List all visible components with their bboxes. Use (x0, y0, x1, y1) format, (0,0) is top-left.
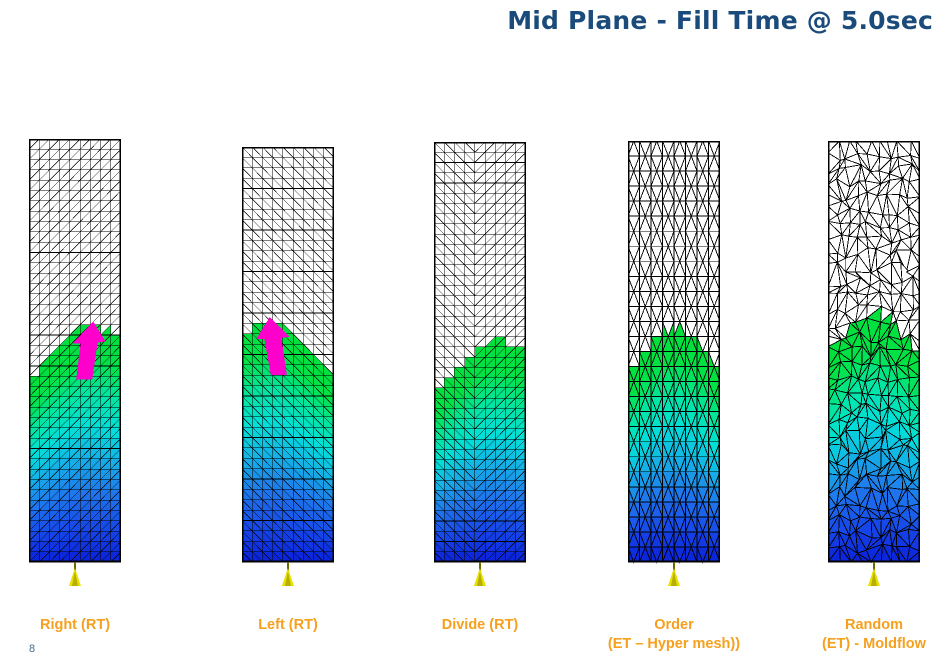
mesh-panel-order-et[interactable] (628, 141, 720, 590)
mesh-svg-right-rt (29, 139, 121, 590)
panel-label-line1: Random (845, 617, 903, 633)
panel-label-line1: Left (RT) (258, 617, 318, 633)
injection-gate-marker (474, 562, 486, 586)
mesh-svg-divide-rt (434, 142, 526, 590)
mesh-panel-random-et[interactable] (828, 141, 920, 590)
slide-canvas: Mid Plane - Fill Time @ 5.0sec Right (RT… (0, 0, 945, 661)
panel-label-line1: Divide (RT) (442, 617, 519, 633)
injection-gate-marker (69, 562, 81, 586)
mesh-triangles (628, 141, 720, 562)
mesh-triangles (828, 141, 920, 562)
panel-label-line1: Right (RT) (40, 617, 110, 633)
mesh-panel-right-rt[interactable] (29, 139, 121, 590)
page-number: 8 (29, 643, 35, 655)
mesh-panel-divide-rt[interactable] (434, 142, 526, 590)
mesh-svg-random-et (828, 141, 920, 590)
panel-label-random-et: Random(ET) - Moldflow (744, 616, 945, 654)
mesh-svg-left-rt (242, 147, 334, 590)
mesh-triangles (434, 142, 526, 562)
injection-gate-marker (282, 562, 294, 586)
injection-gate-marker (668, 562, 680, 586)
injection-gate-marker (868, 562, 880, 586)
mesh-svg-order-et (628, 141, 720, 590)
panel-label-line1: Order (654, 617, 694, 633)
panel-label-line2: (ET) - Moldflow (744, 635, 945, 654)
mesh-triangles (29, 139, 121, 562)
mesh-triangles (242, 147, 334, 562)
mesh-panel-left-rt[interactable] (242, 147, 334, 590)
page-title: Mid Plane - Fill Time @ 5.0sec (507, 6, 933, 35)
